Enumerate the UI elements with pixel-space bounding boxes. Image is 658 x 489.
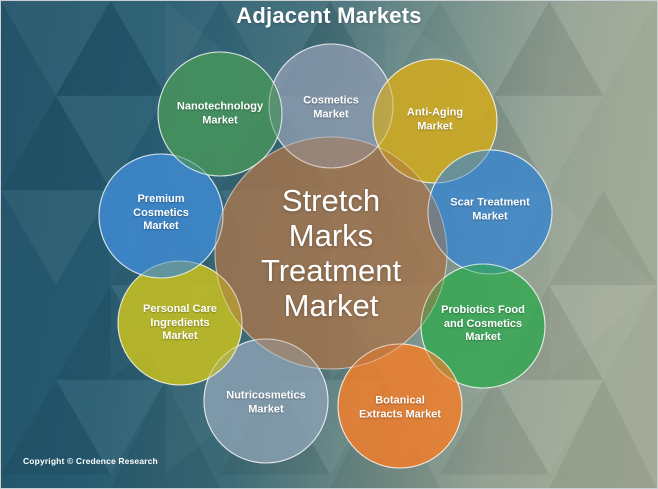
circle-overlay-scar-treatment xyxy=(428,150,552,274)
center-label: Stretch Marks Treatment Market xyxy=(261,183,401,323)
title-container: Adjacent Markets xyxy=(1,3,657,29)
infographic-canvas: Adjacent Markets Stretch Marks Treatment… xyxy=(0,0,658,489)
circle-overlay-personal-care xyxy=(118,261,242,385)
circle-overlay-nanotechnology xyxy=(158,52,282,176)
page-title: Adjacent Markets xyxy=(236,3,421,29)
circle-overlay-botanical xyxy=(338,344,462,468)
copyright-text: Copyright © Credence Research xyxy=(23,456,158,466)
